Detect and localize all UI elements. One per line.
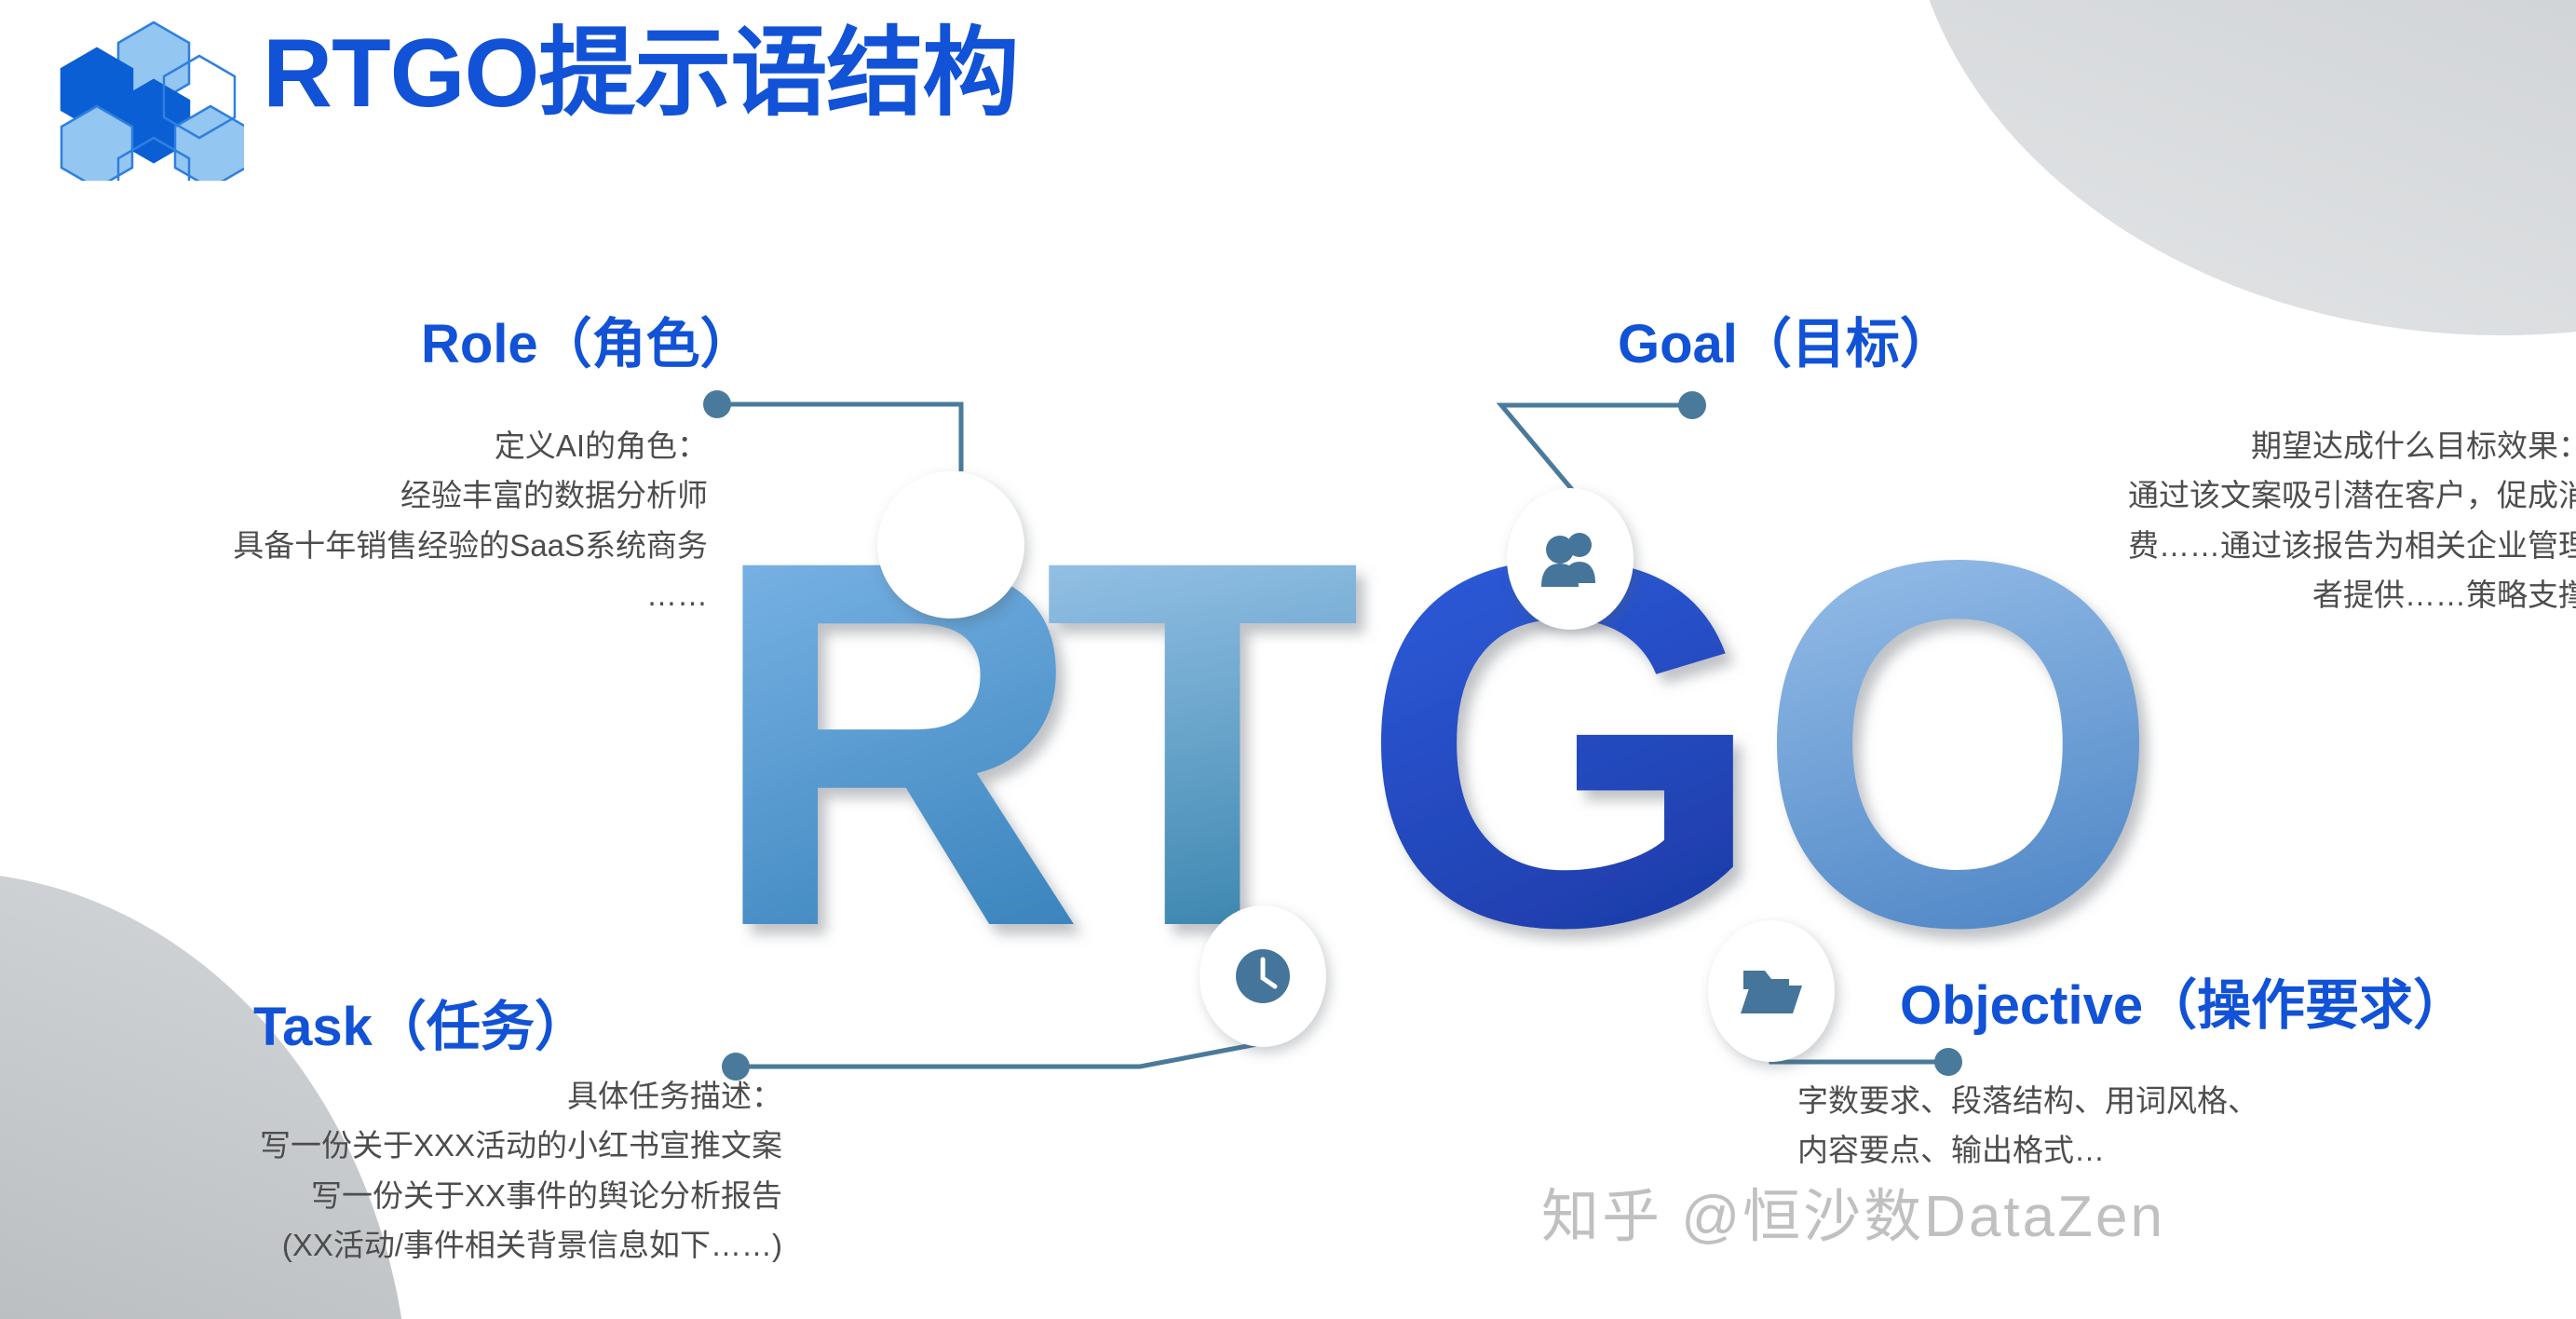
role-line-2: 经验丰富的数据分析师 [37,470,708,520]
svg-text:T: T [1043,503,1361,950]
goal-line-3: 费……通过该报告为相关企业管理 [1658,521,2576,570]
task-line-4: (XX活动/事件相关背景信息如下……) [37,1220,782,1270]
quadrant-text-objective: 字数要求、段落结构、用词风格、 内容要点、输出格式… [1797,1076,2570,1176]
people-icon [1539,531,1602,587]
page-title: RTGO提示语结构 [263,20,1018,127]
role-line-4: …… [37,570,708,619]
role-line-1: 定义AI的角色： [37,421,708,470]
clock-icon [1234,947,1292,1005]
goal-icon-bubble [1507,488,1634,630]
quadrant-text-task: 具体任务描述： 写一份关于XXX活动的小红书宣推文案 写一份关于XX事件的舆论分… [37,1071,782,1271]
folder-icon [1741,965,1802,1017]
watermark: 知乎 @恒沙数DataZen [1541,1169,2165,1253]
hexagon-cluster-logo [58,17,244,181]
objective-line-2: 内容要点、输出格式… [1797,1125,2570,1175]
decorative-corner-top-right [1905,0,2576,335]
goal-line-4: 者提供……策略支撑 [1658,570,2576,619]
task-line-2: 写一份关于XXX活动的小红书宣推文案 [37,1121,782,1170]
role-line-3: 具备十年销售经验的SaaS系统商务 [37,521,708,570]
quadrant-text-goal: 期望达成什么目标效果： 通过该文案吸引潜在客户，促成消 费……通过该报告为相关企… [1658,421,2576,620]
quadrant-heading-objective: Objective（操作要求） [1900,961,2467,1040]
task-line-1: 具体任务描述： [37,1071,782,1121]
quadrant-heading-role: Role（角色） [421,300,754,378]
objective-icon-bubble [1708,920,1835,1062]
task-line-3: 写一份关于XX事件的舆论分析报告 [37,1171,782,1220]
goal-line-2: 通过该文案吸引潜在客户，促成消 [1658,470,2576,520]
quadrant-text-role: 定义AI的角色： 经验丰富的数据分析师 具备十年销售经验的SaaS系统商务 …… [37,421,708,620]
task-icon-bubble [1200,905,1326,1047]
quadrant-heading-goal: Goal（目标） [1618,300,1954,378]
goal-line-1: 期望达成什么目标效果： [1658,421,2576,470]
objective-line-1: 字数要求、段落结构、用词风格、 [1797,1076,2570,1125]
role-icon-bubble [877,471,1024,619]
quadrant-heading-task: Task（任务） [253,983,589,1061]
slide-canvas: RTGO提示语结构 [0,0,2576,1319]
